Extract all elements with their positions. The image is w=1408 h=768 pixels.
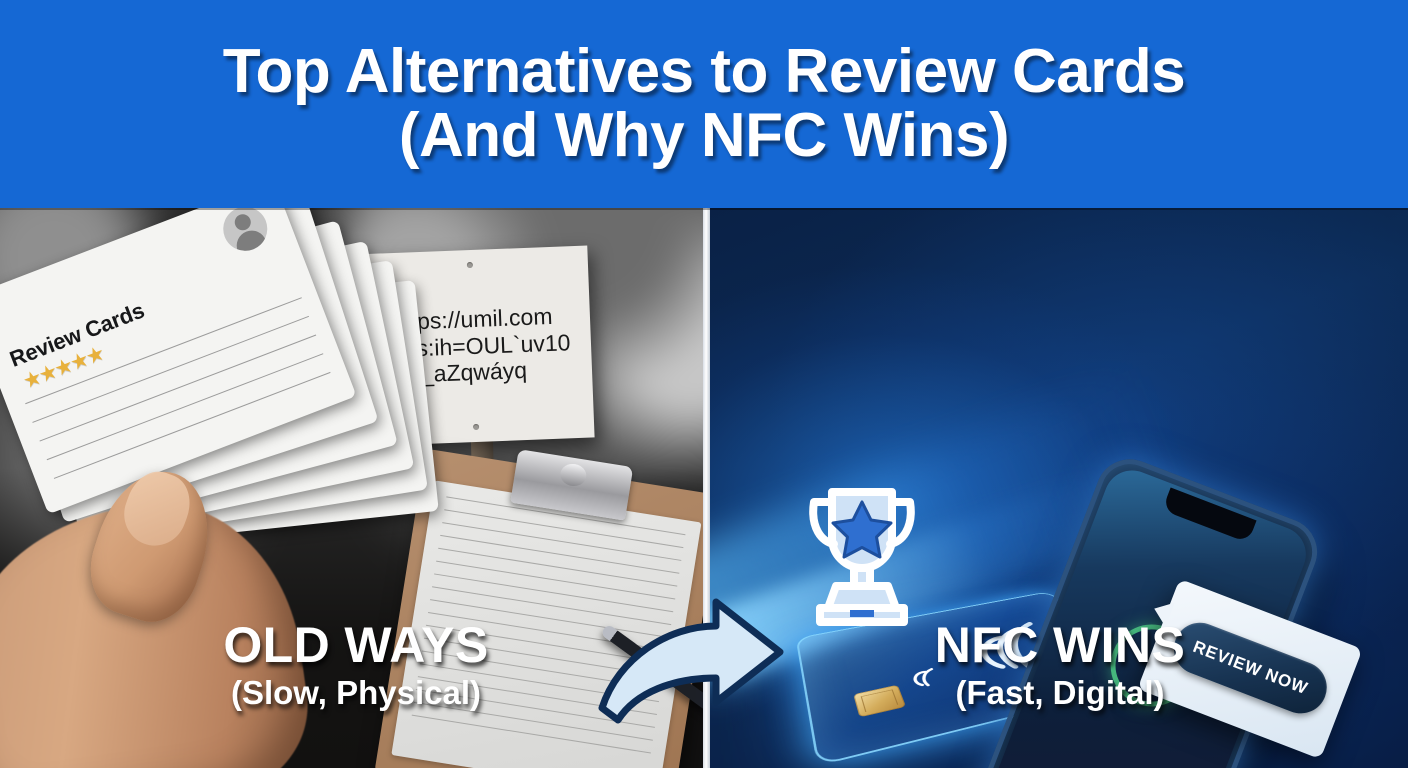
old-ways-caption-sub: (Slow, Physical) <box>96 675 616 711</box>
page-title-line-2: (And Why NFC Wins) <box>399 104 1009 168</box>
screw-icon <box>467 262 473 268</box>
nfc-wins-caption: NFC WINS (Fast, Digital) <box>800 620 1320 711</box>
transition-arrow-icon <box>596 596 786 726</box>
old-ways-panel: https://umil.com /links:ih=OUL`uv10 _aZq… <box>0 208 706 768</box>
infographic-canvas: Top Alternatives to Review Cards (And Wh… <box>0 0 1408 768</box>
comparison-panels: https://umil.com /links:ih=OUL`uv10 _aZq… <box>0 208 1408 768</box>
trophy-icon <box>792 476 932 636</box>
person-avatar-icon <box>217 208 274 257</box>
old-ways-caption-main: OLD WAYS <box>96 620 616 671</box>
old-ways-caption: OLD WAYS (Slow, Physical) <box>96 620 616 711</box>
screw-icon <box>473 424 479 430</box>
header-banner: Top Alternatives to Review Cards (And Wh… <box>0 0 1408 208</box>
nfc-wins-caption-sub: (Fast, Digital) <box>800 675 1320 711</box>
page-title-line-1: Top Alternatives to Review Cards <box>223 40 1185 104</box>
nfc-wins-caption-main: NFC WINS <box>800 620 1320 671</box>
